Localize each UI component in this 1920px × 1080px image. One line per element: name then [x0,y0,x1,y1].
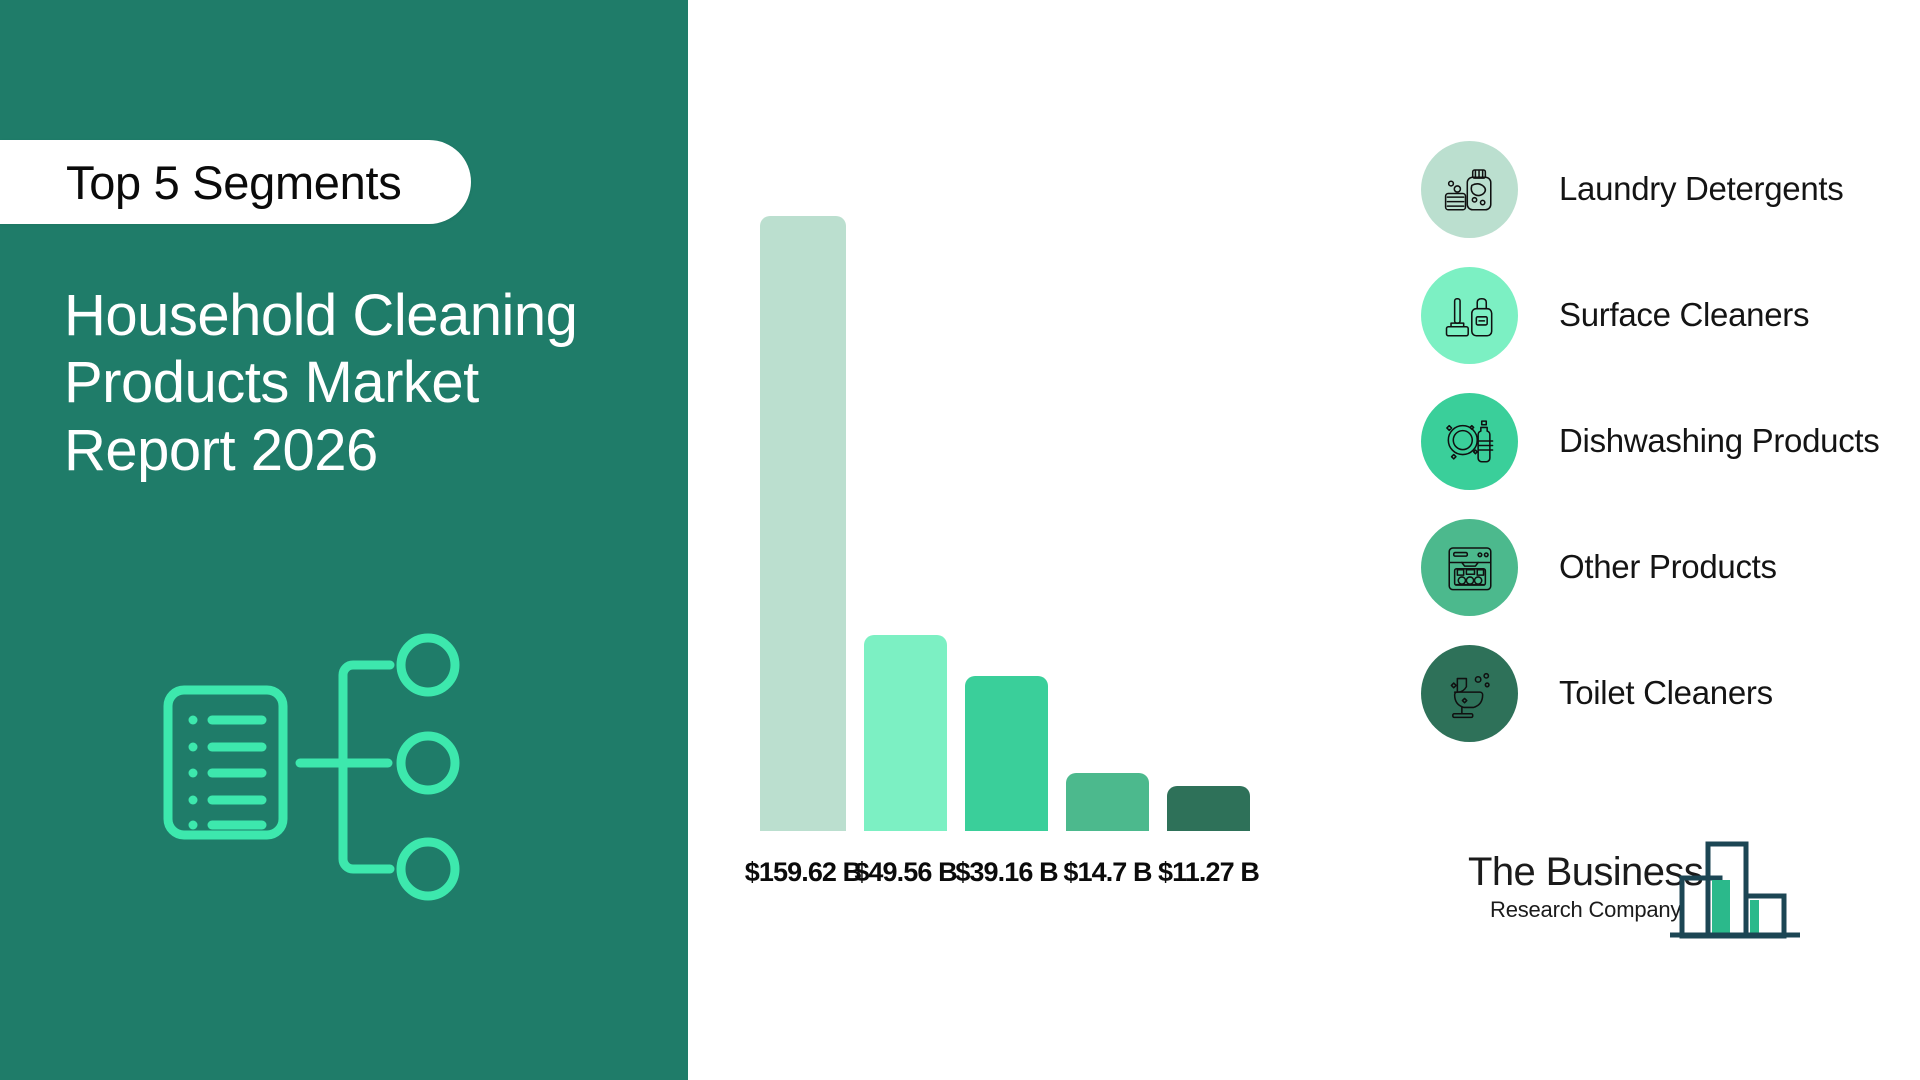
left-title-panel: Top 5 Segments Household Cleaning Produc… [0,0,688,1080]
page-title: Household Cleaning Products Market Repor… [64,282,624,484]
company-logo: The Business Research Company [1468,834,1798,946]
legend-item: Toilet Cleaners [1421,630,1891,756]
bar-value-label: $49.56 B [854,857,956,888]
legend-item-label: Dishwashing Products [1559,422,1880,460]
bar-value-label: $11.27 B [1158,857,1259,888]
logo-text: The Business Research Company [1468,852,1703,921]
top-segments-badge: Top 5 Segments [0,140,471,224]
toilet-icon [1421,645,1518,742]
legend-item: Other Products [1421,504,1891,630]
bar [965,676,1048,831]
detergent-bottle-icon [1421,141,1518,238]
legend-item: Laundry Detergents [1421,126,1891,252]
brush-and-spray-bottle-icon [1421,267,1518,364]
legend-item-label: Toilet Cleaners [1559,674,1773,712]
legend-item: Surface Cleaners [1421,252,1891,378]
bar-value-label: $159.62 B [745,857,862,888]
legend: Laundry DetergentsSurface CleanersDishwa… [1421,126,1891,756]
logo-bar-chart-mark [1670,834,1800,946]
plate-and-dish-soap-icon [1421,393,1518,490]
bar [1066,773,1149,831]
legend-item: Dishwashing Products [1421,378,1891,504]
bar-chart: $159.62 B$49.56 B$39.16 B$14.7 B$11.27 B [760,216,1250,888]
dishwasher-icon [1421,519,1518,616]
bar [760,216,846,831]
logo-line-primary: The Business [1468,852,1703,892]
segmentation-diagram-icon [160,612,490,912]
bar-column: $159.62 B [760,216,846,888]
bar-value-label: $14.7 B [1063,857,1151,888]
bar-column: $39.16 B [965,216,1048,888]
legend-item-label: Laundry Detergents [1559,170,1843,208]
bar [1167,786,1250,831]
legend-item-label: Surface Cleaners [1559,296,1809,334]
legend-item-label: Other Products [1559,548,1777,586]
bar [864,635,947,831]
badge-label: Top 5 Segments [66,155,401,210]
bar-value-label: $39.16 B [955,857,1057,888]
bar-column: $49.56 B [864,216,947,888]
logo-line-secondary: Research Company [1468,899,1703,921]
bar-column: $14.7 B [1066,216,1149,888]
bar-column: $11.27 B [1167,216,1250,888]
